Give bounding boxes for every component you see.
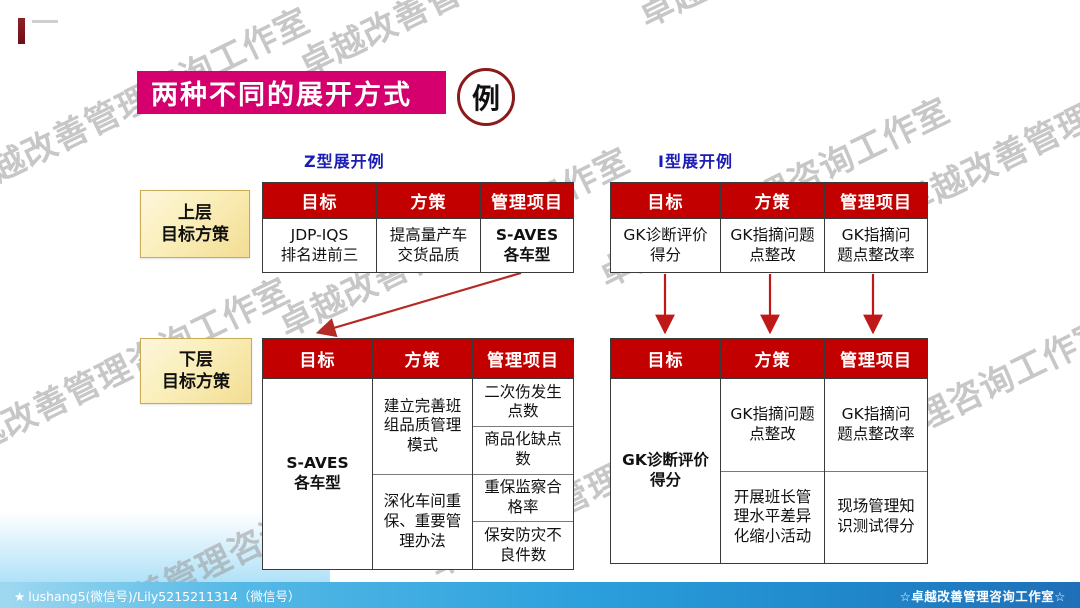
table-cell: GK诊断评价 得分 [611,219,720,272]
header-policy: 方策 [377,183,480,219]
table-cell: 商品化缺点 数 [473,427,573,475]
footer-bar: ★lushang5(微信号)/Lily5215211314（微信号） ☆卓越改善… [0,582,1080,608]
column-mgmt-item: 管理项目 二次伤发生 点数 商品化缺点 数 重保监察合 格率 保安防灾不 良件数 [473,339,573,569]
column-policy: 方策 GK指摘问题 点整改 开展班长管 理水平差异 化缩小活动 [721,339,825,563]
watermark-text: 卓越改善管理咨询工作室 [629,0,997,37]
side-label-upper-line1: 上层 [178,202,212,224]
footer-left-text: lushang5(微信号)/Lily5215211314（微信号） [28,589,300,604]
column-mgmt-item: 管理项目 GK指摘问 题点整改率 现场管理知 识测试得分 [825,339,927,563]
header-goal: 目标 [611,183,720,219]
side-label-upper: 上层 目标方策 [140,190,250,258]
column-mgmt-item: 管理项目 S-AVES 各车型 [481,183,573,272]
side-label-lower-line2: 目标方策 [162,371,230,393]
side-label-lower: 下层 目标方策 [140,338,252,404]
example-badge: 例 [457,68,515,126]
header-mgmt-item: 管理项目 [473,339,573,379]
caption-i-type: I型展开例 [658,148,733,172]
column-mgmt-item: 管理项目 GK指摘问 题点整改率 [825,183,927,272]
table-cell: 开展班长管 理水平差异 化缩小活动 [721,472,824,564]
brand-line-icon [32,20,58,23]
column-goal: 目标 GK诊断评价 得分 [611,339,721,563]
star-icon: ★ [14,589,25,604]
table-cell: JDP-IQS 排名进前三 [263,219,376,272]
table-cell: GK指摘问题 点整改 [721,219,824,272]
header-goal: 目标 [611,339,720,379]
table-cell: 二次伤发生 点数 [473,379,573,427]
table-cell: GK诊断评价 得分 [611,379,720,563]
table-cell: 保安防灾不 良件数 [473,522,573,569]
slide-canvas: 两种不同的展开方式 例 Z型展开例 I型展开例 上层 目标方策 下层 目标方策 [0,0,1080,608]
column-policy: 方策 建立完善班 组品质管理 模式 深化车间重 保、重要管 理办法 [373,339,473,569]
table-cell: 提高量产车 交货品质 [377,219,480,272]
header-policy: 方策 [721,339,824,379]
slide-title-banner: 两种不同的展开方式 [137,71,446,114]
column-goal: 目标 S-AVES 各车型 [263,339,373,569]
column-policy: 方策 提高量产车 交货品质 [377,183,481,272]
example-badge-label: 例 [472,77,500,117]
side-label-lower-line1: 下层 [179,349,213,371]
page-title: 两种不同的展开方式 [151,73,412,112]
caption-z-type: Z型展开例 [304,148,385,172]
table-i-lower: 目标 GK诊断评价 得分 方策 GK指摘问题 点整改 开展班长管 理水平差异 化… [610,338,928,564]
column-goal: 目标 JDP-IQS 排名进前三 [263,183,377,272]
column-goal: 目标 GK诊断评价 得分 [611,183,721,272]
side-label-upper-line2: 目标方策 [161,224,229,246]
table-z-lower: 目标 S-AVES 各车型 方策 建立完善班 组品质管理 模式 深化车间重 保、… [262,338,574,570]
table-cell: 建立完善班 组品质管理 模式 [373,379,472,475]
arrow-z-diagonal [320,273,521,332]
table-cell: 现场管理知 识测试得分 [825,472,927,564]
header-goal: 目标 [263,339,372,379]
footer-right-text: ☆卓越改善管理咨询工作室☆ [900,586,1066,605]
table-cell: GK指摘问题 点整改 [721,379,824,472]
footer-left: ★lushang5(微信号)/Lily5215211314（微信号） [14,586,300,605]
header-policy: 方策 [373,339,472,379]
table-cell: S-AVES 各车型 [263,379,372,569]
brand-bar-icon [18,18,25,44]
column-policy: 方策 GK指摘问题 点整改 [721,183,825,272]
table-cell: 重保监察合 格率 [473,475,573,523]
table-i-upper: 目标 GK诊断评价 得分 方策 GK指摘问题 点整改 管理项目 GK指摘问 题点… [610,182,928,273]
header-goal: 目标 [263,183,376,219]
header-mgmt-item: 管理项目 [481,183,573,219]
header-policy: 方策 [721,183,824,219]
table-cell: 深化车间重 保、重要管 理办法 [373,475,472,570]
table-cell: S-AVES 各车型 [481,219,573,272]
table-cell: GK指摘问 题点整改率 [825,379,927,472]
header-mgmt-item: 管理项目 [825,183,927,219]
table-cell: GK指摘问 题点整改率 [825,219,927,272]
header-mgmt-item: 管理项目 [825,339,927,379]
table-z-upper: 目标 JDP-IQS 排名进前三 方策 提高量产车 交货品质 管理项目 S-AV… [262,182,574,273]
